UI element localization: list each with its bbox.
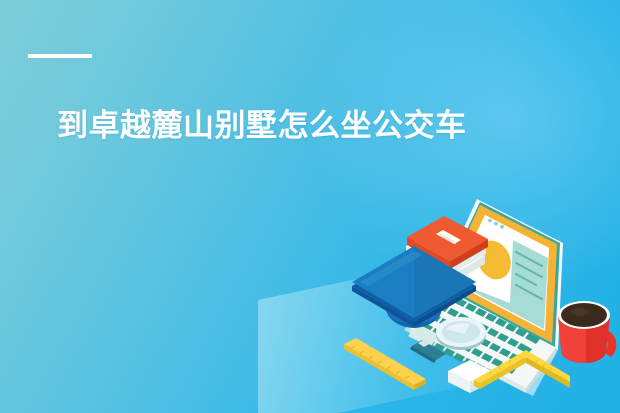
study-desk-illustration — [330, 182, 620, 413]
coffee-mug-icon — [558, 301, 616, 363]
article-header-banner: 到卓越麓山别墅怎么坐公交车 — [0, 0, 620, 413]
title-accent-bar — [28, 54, 92, 58]
page-title: 到卓越麓山别墅怎么坐公交车 — [57, 106, 577, 146]
